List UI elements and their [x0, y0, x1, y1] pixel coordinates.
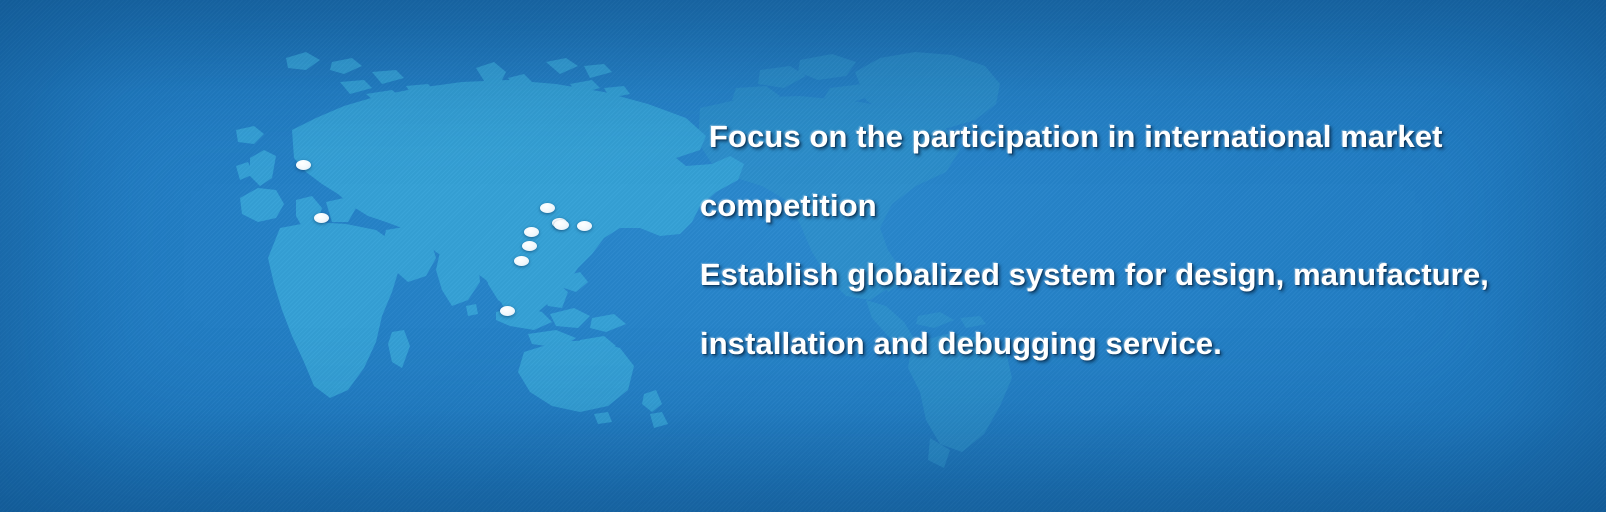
copy-line-3: Establish globalized system for design, …: [700, 240, 1606, 309]
location-marker-east-asia-2[interactable]: [522, 241, 537, 251]
location-marker-east-asia-3[interactable]: [514, 256, 529, 266]
banner-copy: Focus on the participation in internatio…: [700, 102, 1606, 378]
global-presence-banner: Focus on the participation in internatio…: [0, 0, 1606, 512]
map-landmass-eurasia-africa: [236, 52, 744, 428]
location-marker-east-asia-1[interactable]: [524, 227, 539, 237]
copy-line-1: Focus on the participation in internatio…: [700, 102, 1606, 171]
location-marker-japan-west[interactable]: [554, 220, 569, 230]
location-marker-japan-east[interactable]: [577, 221, 592, 231]
copy-line-4: installation and debugging service.: [700, 309, 1606, 378]
location-marker-southern-europe[interactable]: [314, 213, 329, 223]
location-marker-southeast-asia[interactable]: [500, 306, 515, 316]
location-marker-northeast-asia-1[interactable]: [540, 203, 555, 213]
location-marker-northern-europe[interactable]: [296, 160, 311, 170]
copy-line-2: competition: [700, 171, 1606, 240]
